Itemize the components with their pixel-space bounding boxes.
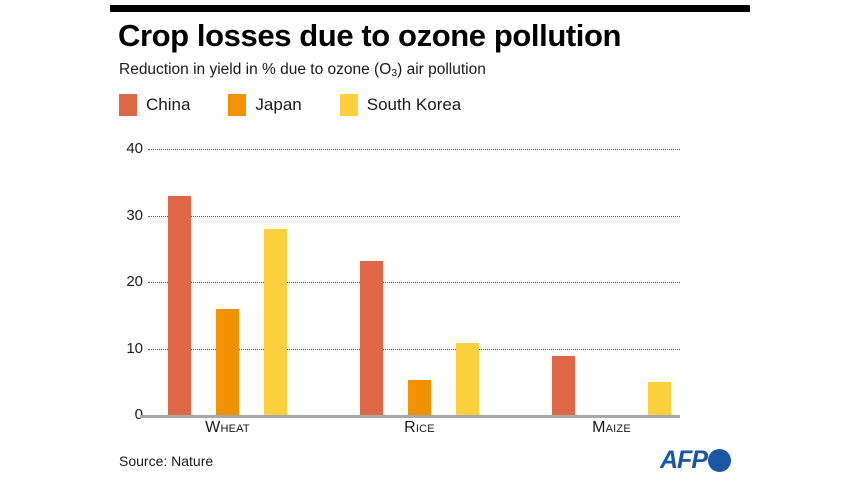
bar-wheat-japan — [216, 309, 239, 415]
legend-item-south-korea[interactable]: South Korea — [340, 94, 462, 116]
gridline — [148, 216, 680, 217]
legend-swatch-icon — [340, 94, 358, 116]
y-axis-tick-label: 30 — [107, 207, 143, 224]
x-axis-category-label-wheat: Wheat — [148, 419, 308, 437]
bar-rice-south-korea — [456, 343, 479, 415]
page-title: Crop losses due to ozone pollution — [118, 18, 758, 54]
subtitle-text-part1: Reduction in yield in % due to ozone (O — [119, 61, 391, 78]
subtitle-text-part2: ) air pollution — [397, 61, 486, 78]
y-axis-tick-label: 10 — [107, 340, 143, 357]
afp-logo-text: AFP — [660, 448, 707, 473]
bar-wheat-south-korea — [264, 229, 287, 415]
legend-swatch-icon — [228, 94, 246, 116]
bar-rice-china — [360, 261, 383, 415]
legend-item-china[interactable]: China — [119, 94, 190, 116]
legend-label: South Korea — [367, 95, 462, 115]
legend-label: Japan — [255, 95, 301, 115]
gridline — [148, 149, 680, 150]
y-axis-tick-label: 0 — [107, 406, 143, 423]
afp-logo: AFP — [660, 448, 731, 473]
legend-label: China — [146, 95, 190, 115]
source-note: Source: Nature — [119, 453, 213, 469]
y-axis-tick-label: 40 — [107, 140, 143, 157]
bar-maize-china — [552, 356, 575, 415]
x-axis-category-label-rice: Rice — [340, 419, 500, 437]
gridline — [148, 282, 680, 283]
legend-item-japan[interactable]: Japan — [228, 94, 301, 116]
chart-plot-area — [148, 149, 680, 415]
x-axis-baseline — [140, 415, 680, 418]
y-axis-tick-label: 20 — [107, 273, 143, 290]
legend-swatch-icon — [119, 94, 137, 116]
afp-logo-dot-icon — [708, 449, 731, 472]
chart-legend: ChinaJapanSouth Korea — [119, 92, 499, 118]
page-subtitle: Reduction in yield in % due to ozone (O3… — [119, 60, 769, 83]
top-rule-divider — [110, 5, 750, 12]
bar-wheat-china — [168, 196, 191, 415]
bar-rice-japan — [408, 380, 431, 415]
x-axis-category-label-maize: Maize — [532, 419, 692, 437]
y-axis-ticks: 010203040 — [103, 149, 143, 415]
infographic-root: Crop losses due to ozone pollution Reduc… — [0, 0, 857, 482]
bar-maize-south-korea — [648, 382, 671, 415]
